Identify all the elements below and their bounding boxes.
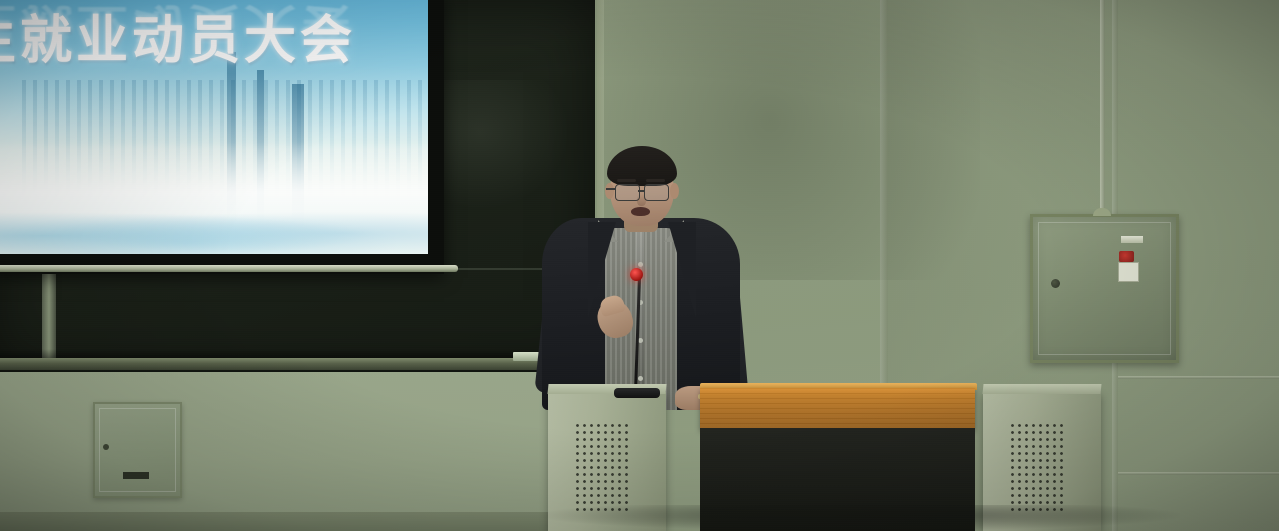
cabinet-handle-icon[interactable]	[1051, 279, 1060, 288]
speaker-person	[536, 150, 746, 410]
wall-horizontal-seam-2	[1118, 472, 1279, 475]
speaker-grille-icon	[1009, 422, 1065, 514]
podium-wood-face	[700, 388, 975, 430]
panel-label	[123, 472, 149, 479]
slide-title: 生就业动员大会	[0, 0, 356, 73]
screen-support-post	[42, 268, 56, 360]
slide-water-graphic	[0, 208, 428, 254]
microphone-indicator-icon	[630, 268, 643, 281]
cabinet-inner-frame	[1038, 222, 1171, 355]
speaker-grille-icon	[574, 422, 630, 514]
nose	[637, 194, 646, 206]
podium-floor-shadow	[540, 505, 1180, 531]
glasses-lens-right	[644, 184, 669, 201]
cabinet-clip	[1093, 208, 1111, 216]
wood-grain	[700, 388, 975, 430]
access-panel-left[interactable]	[93, 402, 182, 498]
eyebrow-left	[617, 179, 636, 182]
cabinet-label	[1118, 262, 1139, 282]
eyebrow-right	[646, 179, 665, 182]
glasses-bridge	[638, 190, 644, 192]
wall-conduit	[1100, 0, 1105, 218]
lapel-right	[668, 222, 696, 318]
glasses-temple	[606, 188, 616, 190]
utility-cabinet-right[interactable]	[1030, 214, 1179, 363]
photo-scene: 生就业动员大会 生就业动员大会	[0, 0, 1279, 531]
panel-handle-icon[interactable]	[103, 444, 109, 450]
loudspeaker-right-top	[982, 384, 1101, 394]
microphone-base	[614, 388, 660, 398]
panel-inner-frame	[99, 408, 176, 492]
mouth	[631, 207, 650, 216]
shirt-button	[638, 376, 643, 381]
shirt-button	[638, 262, 643, 267]
ear-right	[670, 183, 679, 199]
wall-horizontal-seam-1	[1118, 376, 1279, 379]
floor-line	[0, 512, 560, 531]
cabinet-tag	[1121, 236, 1143, 243]
chalk-tray	[0, 358, 590, 370]
projection-screen-rail	[0, 265, 458, 272]
ear-left	[605, 183, 614, 199]
wall-lower-band	[0, 372, 560, 531]
projection-screen: 生就业动员大会 生就业动员大会	[0, 0, 428, 254]
projection-screen-frame: 生就业动员大会 生就业动员大会	[0, 0, 444, 274]
red-seal-icon	[1119, 251, 1134, 262]
